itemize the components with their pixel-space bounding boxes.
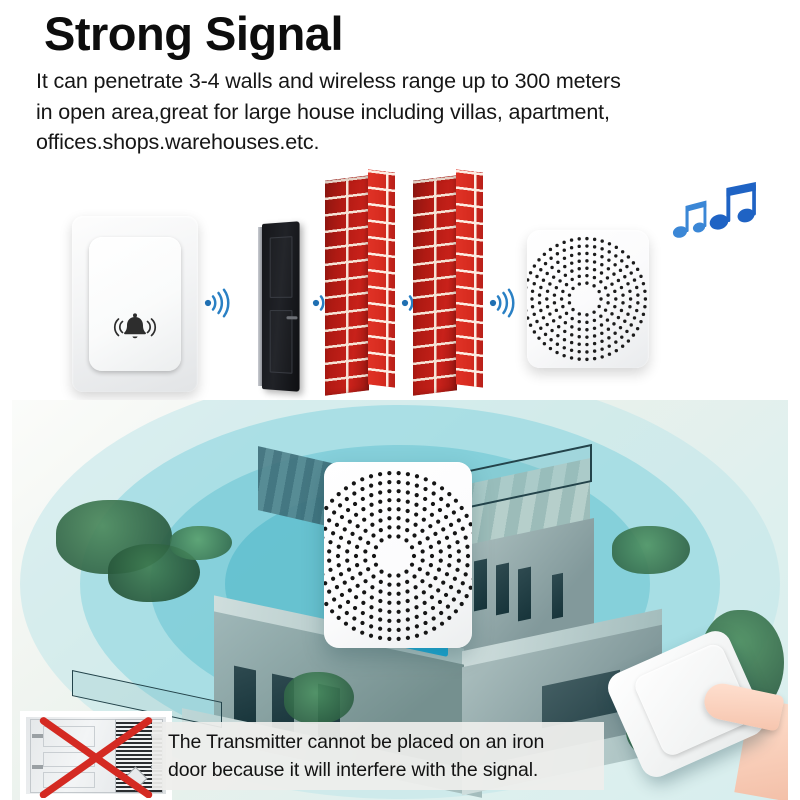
music-note-icon xyxy=(668,182,764,248)
chime-button-1 xyxy=(488,513,500,533)
brick-wall-obstacle-2 xyxy=(413,178,483,393)
brick-wall-front-face xyxy=(413,175,457,395)
doorbell-bell-icon xyxy=(107,310,163,344)
warning-caption-line-2: door because it will interfere with the … xyxy=(168,757,592,785)
window xyxy=(518,567,531,622)
wifi-signal-icon xyxy=(202,288,232,318)
description-line-2: in open area,great for large house inclu… xyxy=(36,97,756,128)
page-title: Strong Signal xyxy=(44,8,343,61)
receiver-chime-overlay xyxy=(324,454,510,650)
speaker-grille-icon xyxy=(527,230,649,368)
brick-wall-side-face xyxy=(368,169,395,387)
description-line-3: offices.shops.warehouses.etc. xyxy=(36,127,756,158)
brick-wall-front-face xyxy=(325,175,369,395)
receiver-button-2 xyxy=(661,299,672,315)
door-handle xyxy=(286,316,297,319)
page-description: It can penetrate 3-4 walls and wireless … xyxy=(36,66,756,158)
description-line-1: It can penetrate 3-4 walls and wireless … xyxy=(36,66,756,97)
door-panel-bottom xyxy=(270,310,293,374)
brick-wall-obstacle-1 xyxy=(325,178,395,393)
receiver-button-1 xyxy=(661,275,672,291)
red-x-icon xyxy=(22,713,170,800)
receiver-chime-unit xyxy=(527,224,687,374)
transmitter-doorbell-button xyxy=(72,216,198,392)
warning-caption: The Transmitter cannot be placed on an i… xyxy=(152,722,604,790)
chime-button-3 xyxy=(488,577,500,597)
receiver-button-3 xyxy=(661,323,672,339)
door-face xyxy=(262,221,300,392)
speaker-grille-icon xyxy=(324,462,472,648)
chime-button-2 xyxy=(488,545,500,565)
brick-wall-side-face xyxy=(456,169,483,387)
product-infographic: Strong Signal It can penetrate 3-4 walls… xyxy=(0,0,800,800)
warning-caption-line-1: The Transmitter cannot be placed on an i… xyxy=(168,729,592,757)
transmitter-press-button xyxy=(89,237,181,371)
signal-penetration-diagram xyxy=(0,168,800,400)
hand-pressing-doorbell xyxy=(612,630,788,800)
header-section: Strong Signal It can penetrate 3-4 walls… xyxy=(0,0,800,170)
wifi-signal-icon xyxy=(487,288,517,318)
iron-door-warning-inset xyxy=(20,711,172,800)
window xyxy=(552,573,563,619)
wooden-door-obstacle xyxy=(258,224,304,389)
door-panel-top xyxy=(270,236,293,298)
